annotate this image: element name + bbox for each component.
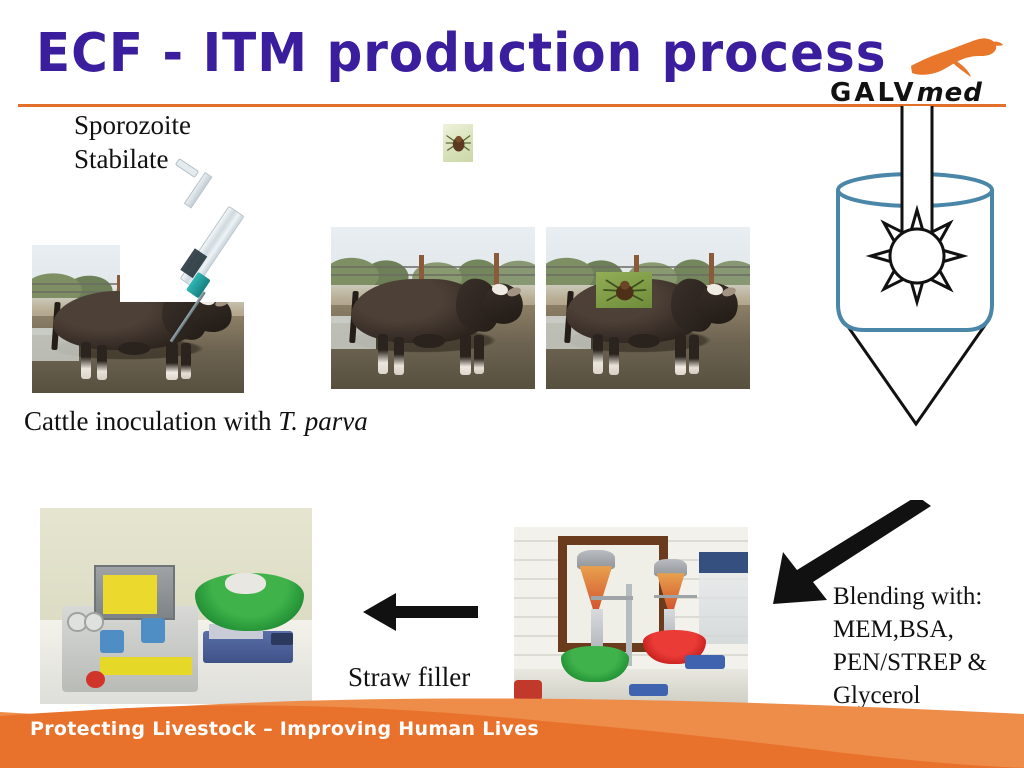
tick-icon: [599, 274, 649, 306]
cow-leg: [593, 334, 603, 374]
cow-leg: [675, 334, 686, 375]
blue-tray: [685, 655, 725, 669]
footer-tagline: Protecting Livestock – Improving Human L…: [30, 718, 539, 740]
cow-scene: [546, 227, 750, 389]
syringe-icon: [120, 190, 280, 302]
page-title: ECF - ITM production process: [36, 22, 887, 84]
cattle-inoculation-caption: Cattle inoculation with T. parva: [24, 406, 368, 437]
cow-leg: [378, 334, 388, 374]
egret-bird-icon: [908, 36, 1004, 82]
sporozoite-line-1: Sporozoite: [74, 108, 191, 142]
cow-leg: [166, 342, 177, 380]
syringe-plunger: [184, 172, 213, 209]
footer-banner: Protecting Livestock – Improving Human L…: [0, 688, 1024, 768]
blending-lab-photo: [514, 527, 748, 705]
stand-clamp: [591, 596, 633, 600]
cow-leg: [81, 342, 91, 379]
tick-photo-small: [443, 124, 473, 162]
cow-photo-2: [331, 227, 535, 389]
funnel-outline: [842, 318, 990, 424]
cow-udder: [118, 342, 151, 355]
tick-icon: [445, 130, 471, 156]
cow-leg: [181, 343, 191, 379]
cow: [335, 233, 531, 385]
cow-leg: [609, 337, 619, 375]
cow-leg: [394, 337, 404, 375]
blender-drawing: [812, 106, 1024, 436]
cabinet-glass: [699, 573, 748, 644]
logo-wordmark: GALVmed: [830, 80, 983, 106]
cow-scene: [331, 227, 535, 389]
logo-word-med: med: [917, 78, 983, 108]
cow-leg: [689, 335, 699, 373]
machine-dial: [84, 612, 104, 632]
syringe-barrel: [180, 206, 245, 290]
blending-line-3: PEN/STREP &: [833, 646, 1023, 679]
bowl-contents-foil: [225, 573, 266, 595]
scale-display: [271, 633, 293, 645]
caption-prefix: Cattle inoculation with: [24, 406, 278, 436]
blue-shelf: [699, 552, 748, 573]
blade-assembly: [871, 210, 963, 302]
arrow-left-icon: [360, 590, 480, 634]
machine-valve: [100, 630, 124, 654]
syringe-photo: [120, 190, 280, 302]
left-arrow: [360, 590, 480, 634]
tick-photo-on-cow: [596, 272, 652, 308]
cow-leg: [460, 334, 471, 375]
hopper-yellow-block: [103, 575, 157, 614]
logo-word-galv: GALV: [830, 78, 917, 108]
machine-valve: [141, 618, 165, 643]
slide: ECF - ITM production process GALVmed Spo…: [0, 0, 1024, 768]
cow-leg: [474, 335, 484, 373]
cow: [550, 233, 746, 385]
cow-leg: [97, 345, 107, 381]
sporozoite-line-2: Stabilate: [74, 142, 191, 176]
cow-udder: [413, 334, 444, 348]
blender-diagram: [812, 106, 1024, 436]
sporozoite-stabilate-label: Sporozoite Stabilate: [74, 108, 191, 176]
straw-filler-photo: [40, 508, 312, 704]
cow-photo-3: [546, 227, 750, 389]
galvmed-logo: GALVmed: [830, 36, 1010, 108]
blending-line-2: MEM,BSA,: [833, 613, 1023, 646]
caption-species: T. parva: [278, 406, 368, 436]
cow-udder: [628, 334, 659, 348]
machine-yellow-bar: [100, 657, 192, 675]
blending-line-1: Blending with:: [833, 580, 1023, 613]
stand-clamp: [654, 595, 696, 599]
